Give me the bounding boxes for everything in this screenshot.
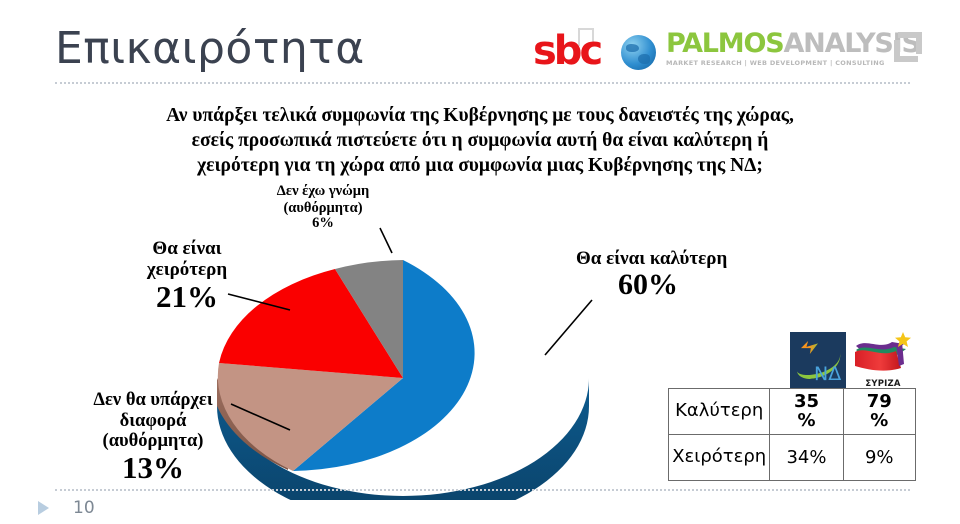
presentation-slide: Επικαιρότητα sbc PALMOSANALYSIS MARKET R… [0,0,960,524]
callout-better-label: Θα είναι καλύτερη [576,248,727,269]
question-line-3: χειρότερη για τη χώρα από μια συμφωνία μ… [85,153,875,178]
header-divider [55,82,910,84]
syriza-party-logo: ΣΥΡΙΖΑ [852,330,914,388]
palmos-square-icon [894,32,922,62]
question-line-1: Αν υπάρξει τελικά συμφωνία της Κυβέρνηση… [85,103,875,128]
nd-party-logo: ΝΔ [790,332,846,388]
row-worse-nd-value: 34% [770,435,843,481]
callout-better-value: 60% [576,269,776,301]
pie-chart-svg [208,225,598,500]
party-comparison-table: Καλύτερη 35% 79% Χειρότερη 34% 9% [668,388,916,481]
callout-nodiff-label-3: (αυθόρμητα) [103,431,204,451]
nd-logo-text: ΝΔ [814,363,841,385]
callout-noopinion-label-1: Δεν έχω γνώμη [277,183,369,199]
callout-worse: Θα είναι χειρότερη 21% [112,238,262,313]
callout-better: Θα είναι καλύτερη 60% [576,248,776,301]
callout-worse-label-1: Θα είναι [152,238,221,259]
sbc-logo: sbc [533,28,663,74]
callout-worse-value: 21% [112,281,262,314]
callout-noopinion-value: 6% [248,216,398,231]
syriza-flag-icon [852,330,914,372]
palmos-tagline: MARKET RESEARCH | WEB DEVELOPMENT | CONS… [666,59,916,67]
footer-divider [55,489,910,491]
page-number: 10 [73,498,95,518]
page-title: Επικαιρότητα [55,27,365,71]
row-better-nd-value: 35% [770,389,843,435]
globe-icon [621,35,656,70]
question-line-2: εσείς προσωπικά πιστεύετε ότι η συμφωνία… [85,128,875,153]
question-text: Αν υπάρξει τελικά συμφωνία της Κυβέρνηση… [85,103,875,178]
row-worse-syriza-value: 9% [843,435,915,481]
brand-logo-band: sbc PALMOSANALYSIS MARKET RESEARCH | WEB… [533,24,913,80]
row-better-syriza-value: 79% [843,389,915,435]
row-better-label: Καλύτερη [669,389,770,435]
table-row-worse: Χειρότερη 34% 9% [669,435,916,481]
callout-nodiff-label-1: Δεν θα υπάρχει [93,390,212,410]
palmos-primary-text: PALMOS [666,28,783,59]
row-worse-label: Χειρότερη [669,435,770,481]
callout-nodiff-label-2: διαφορά [120,411,187,431]
callout-worse-label-2: χειρότερη [147,259,227,280]
palmos-analysis-logo: PALMOSANALYSIS MARKET RESEARCH | WEB DEV… [666,30,916,74]
callout-nodiff-value: 13% [58,452,248,485]
palmos-wordmark: PALMOSANALYSIS [666,30,916,58]
table-row-better: Καλύτερη 35% 79% [669,389,916,435]
callout-noopinion-label-2: (αυθόρμητα) [283,200,362,216]
callout-noopinion: Δεν έχω γνώμη (αυθόρμητα) 6% [248,183,398,232]
callout-nodiff: Δεν θα υπάρχει διαφορά (αυθόρμητα) 13% [58,390,248,485]
pie-chart [208,225,598,500]
page-marker-icon [38,501,49,515]
sbc-wordmark: sbc [533,31,600,71]
